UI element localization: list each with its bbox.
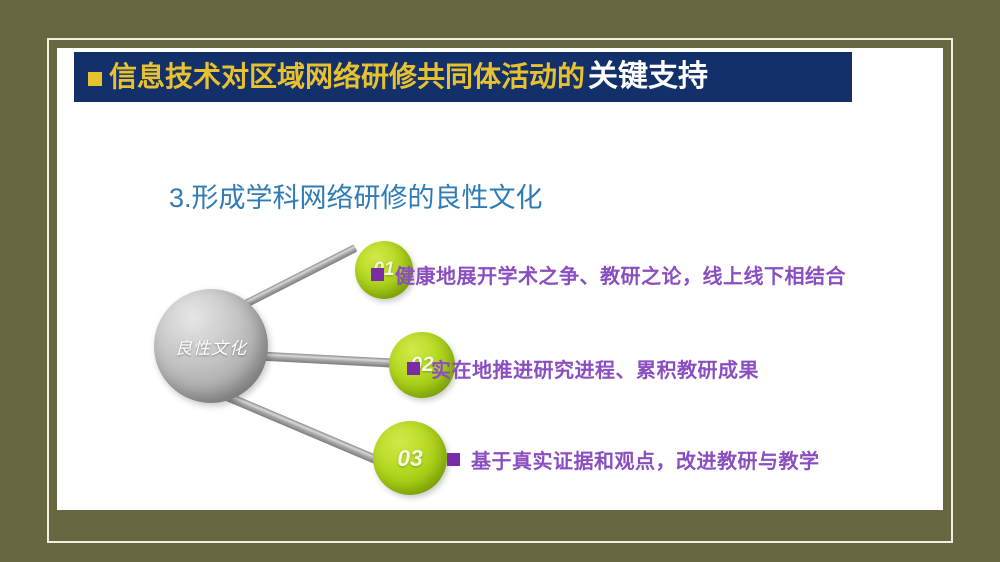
slide-title-main: 信息技术对区域网络研修共同体活动的 xyxy=(109,63,585,91)
square-bullet-icon xyxy=(407,362,420,375)
slide-canvas: 良性文化 01 02 03 健康地展开学术之争、教研之论，线上线下相结合 实在地… xyxy=(57,48,943,510)
bullet-item-3-label: 基于真实证据和观点，改进教研与教学 xyxy=(471,445,820,474)
bullet-item-2: 实在地推进研究进程、累积教研成果 xyxy=(407,354,759,383)
hub-node[interactable]: 良性文化 xyxy=(154,289,268,403)
slide-title-bar: 信息技术对区域网络研修共同体活动的 关键支持 xyxy=(74,52,852,102)
bullet-item-1: 健康地展开学术之争、教研之论，线上线下相结合 xyxy=(371,260,846,289)
title-square-bullet-icon xyxy=(88,72,102,86)
bullet-item-3: 基于真实证据和观点，改进教研与教学 xyxy=(447,445,820,474)
bullet-item-1-label: 健康地展开学术之争、教研之论，线上线下相结合 xyxy=(395,260,846,289)
node-circle-03[interactable]: 03 xyxy=(373,421,447,495)
square-bullet-icon xyxy=(447,453,460,466)
section-subtitle: 3.形成学科网络研修的良性文化 xyxy=(169,176,543,215)
slide-root: 良性文化 01 02 03 健康地展开学术之争、教研之论，线上线下相结合 实在地… xyxy=(0,0,1000,562)
bullet-item-2-label: 实在地推进研究进程、累积教研成果 xyxy=(431,354,759,383)
node-number-03: 03 xyxy=(397,445,423,472)
square-bullet-icon xyxy=(371,268,384,281)
hub-label: 良性文化 xyxy=(175,334,247,359)
slide-title-accent: 关键支持 xyxy=(588,62,708,92)
